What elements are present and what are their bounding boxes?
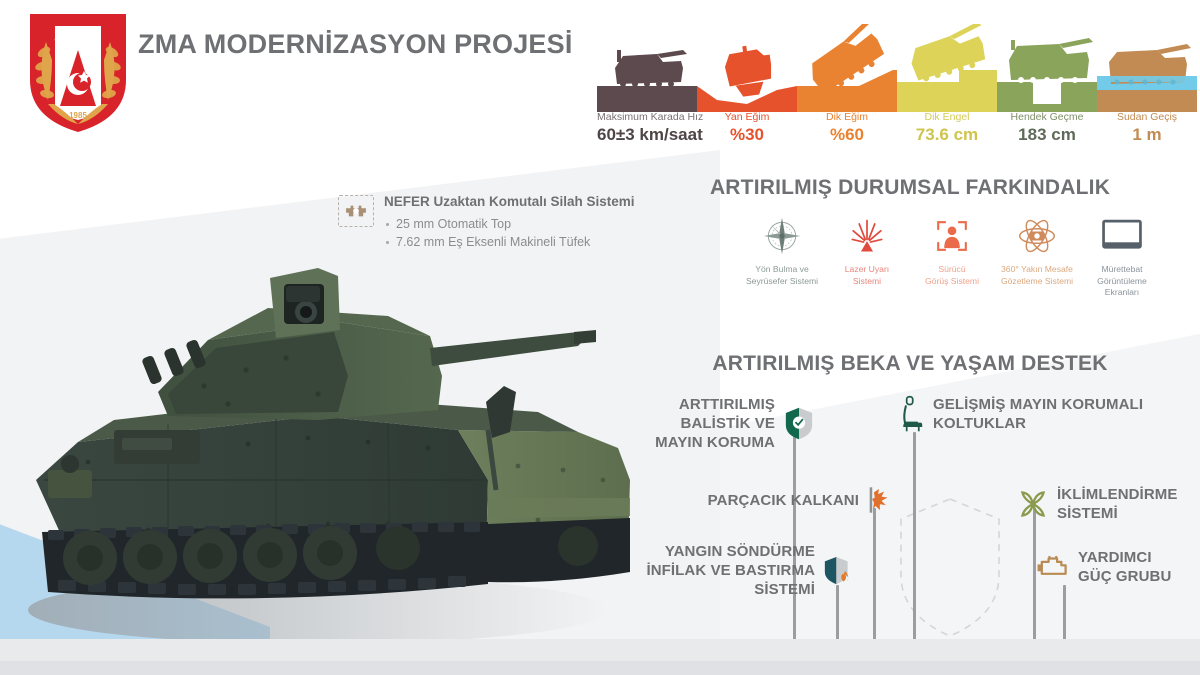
ballistic-shield-icon: [784, 406, 814, 441]
stat-value-3: 73.6 cm: [897, 124, 997, 145]
survivability-item-ballistic: ARTTIRILMIŞ BALİSTİK ve MAYIN KORUMA: [644, 395, 814, 452]
nefer-weapon-callout: NEFER Uzaktan Komutalı Silah Sistemi 25 …: [338, 194, 638, 251]
stat-value-0: 60±3 km/saat: [597, 124, 697, 145]
stat-item-2: Dik Eğim %60: [797, 110, 897, 145]
survivability-item-apu: YARDIMCI GÜÇ GRUBU: [1035, 548, 1200, 586]
survivability-heading: ARTIRILMIŞ BEKA VE YAŞAM DESTEK: [640, 352, 1180, 376]
stat-item-1: Yan Eğim %30: [697, 110, 797, 145]
driver-vision-icon: [912, 214, 992, 258]
awareness-heading: ARTIRILMIŞ DURUMSAL FARKINDALIK: [640, 176, 1180, 200]
survivability-label-3: İKLİMLENDİRME SİSTEMİ: [1057, 485, 1177, 523]
stat-label-5: Sudan Geçiş: [1097, 110, 1197, 124]
tank-level-icon: [615, 50, 687, 87]
survivability-item-climate: İKLİMLENDİRME SİSTEMİ: [1018, 485, 1200, 523]
weapon-station-icon: [338, 195, 374, 227]
stat-label-0: Maksimum Karada Hız: [597, 110, 697, 124]
svg-text:SSB: SSB: [54, 27, 102, 48]
awareness-label-2: Sürücü Görüş Sistemi: [912, 264, 992, 287]
compass-rose-icon: [742, 214, 822, 258]
stat-value-1: %30: [697, 124, 797, 145]
specifications-chart: Maksimum Karada Hız 60±3 km/saat Yan Eği…: [597, 24, 1197, 149]
stat-label-4: Hendek Geçme: [997, 110, 1097, 124]
awareness-label-0: Yön Bulma ve Seyrüsefer Sistemi: [742, 264, 822, 287]
nefer-bullet-0: 25 mm Otomatik Top: [384, 215, 635, 233]
footer-band-lower: [0, 661, 1200, 675]
apu-engine-icon: [1035, 555, 1069, 579]
stat-value-5: 1 m: [1097, 124, 1197, 145]
awareness-item-2: Sürücü Görüş Sistemi: [912, 214, 992, 287]
page-title: ZMA MODERNİZASYON PROJESİ: [138, 28, 578, 61]
specifications-terrain-graphic: [597, 24, 1197, 112]
nefer-bullet-list: 25 mm Otomatik Top 7.62 mm Eş Eksenli Ma…: [384, 215, 635, 251]
awareness-label-4: Mürettebat Görüntüleme Ekranları: [1082, 264, 1162, 299]
logo-year: 1985: [69, 111, 87, 120]
fire-suppression-icon: [824, 555, 852, 587]
tank-trench-icon: [1009, 38, 1093, 83]
stat-bar-0: [597, 86, 697, 112]
laser-warning-icon: [827, 214, 907, 258]
climate-fan-icon: [1018, 489, 1048, 519]
tank-side-slope-icon: [722, 43, 775, 99]
survivability-item-seats: GELİŞMİŞ MAYIN KORUMALI KOLTUKLAR: [898, 395, 1198, 433]
survivability-item-spall: PARÇACIK KALKANI: [690, 485, 890, 515]
stat-item-5: Sudan Geçiş 1 m: [1097, 110, 1197, 145]
infographic-canvas: SSB 1985 ZMA MODERNİZASYON PROJESİ: [0, 0, 1200, 675]
awareness-items: Yön Bulma ve Seyrüsefer Sistemi Lazer Uy…: [742, 214, 1162, 299]
specifications-label-row: Maksimum Karada Hız 60±3 km/saat Yan Eği…: [597, 110, 1197, 145]
survivability-label-1: GELİŞMİŞ MAYIN KORUMALI KOLTUKLAR: [933, 395, 1143, 433]
stat-item-3: Dik Engel 73.6 cm: [897, 110, 997, 145]
stat-label-3: Dik Engel: [897, 110, 997, 124]
awareness-label-3: 360° Yakın Mesafe Gözetleme Sistemi: [997, 264, 1077, 287]
spall-liner-icon: [868, 485, 890, 515]
ssb-logo: SSB 1985: [22, 8, 134, 136]
survivability-label-0: ARTTIRILMIŞ BALİSTİK ve MAYIN KORUMA: [644, 395, 775, 452]
stat-label-1: Yan Eğim: [697, 110, 797, 124]
orbital-camera-icon: [997, 214, 1077, 258]
survivability-item-fire: YANGIN SÖNDÜRME İNFİLAK VE BASTIRMA SİST…: [620, 542, 852, 599]
awareness-item-4: Mürettebat Görüntüleme Ekranları: [1082, 214, 1162, 299]
stat-bar-3: [897, 70, 997, 112]
stat-value-4: 183 cm: [997, 124, 1097, 145]
stat-item-0: Maksimum Karada Hız 60±3 km/saat: [597, 110, 697, 145]
stat-label-2: Dik Eğim: [797, 110, 897, 124]
nefer-bullet-1: 7.62 mm Eş Eksenli Makineli Tüfek: [384, 233, 635, 251]
awareness-label-1: Lazer Uyarı Sistemi: [827, 264, 907, 287]
nefer-title: NEFER Uzaktan Komutalı Silah Sistemi: [384, 194, 635, 210]
survivability-label-4: YANGIN SÖNDÜRME İNFİLAK VE BASTIRMA SİST…: [646, 542, 815, 599]
stat-item-4: Hendek Geçme 183 cm: [997, 110, 1097, 145]
survivability-label-5: YARDIMCI GÜÇ GRUBU: [1078, 548, 1171, 586]
awareness-item-1: Lazer Uyarı Sistemi: [827, 214, 907, 287]
shield-watermark-icon: [895, 495, 1005, 640]
awareness-item-0: Yön Bulma ve Seyrüsefer Sistemi: [742, 214, 822, 287]
awareness-item-3: 360° Yakın Mesafe Gözetleme Sistemi: [997, 214, 1077, 287]
stat-value-2: %60: [797, 124, 897, 145]
blast-seat-icon: [898, 395, 924, 433]
survivability-label-2: PARÇACIK KALKANI: [708, 491, 859, 510]
crew-display-icon: [1082, 214, 1162, 258]
